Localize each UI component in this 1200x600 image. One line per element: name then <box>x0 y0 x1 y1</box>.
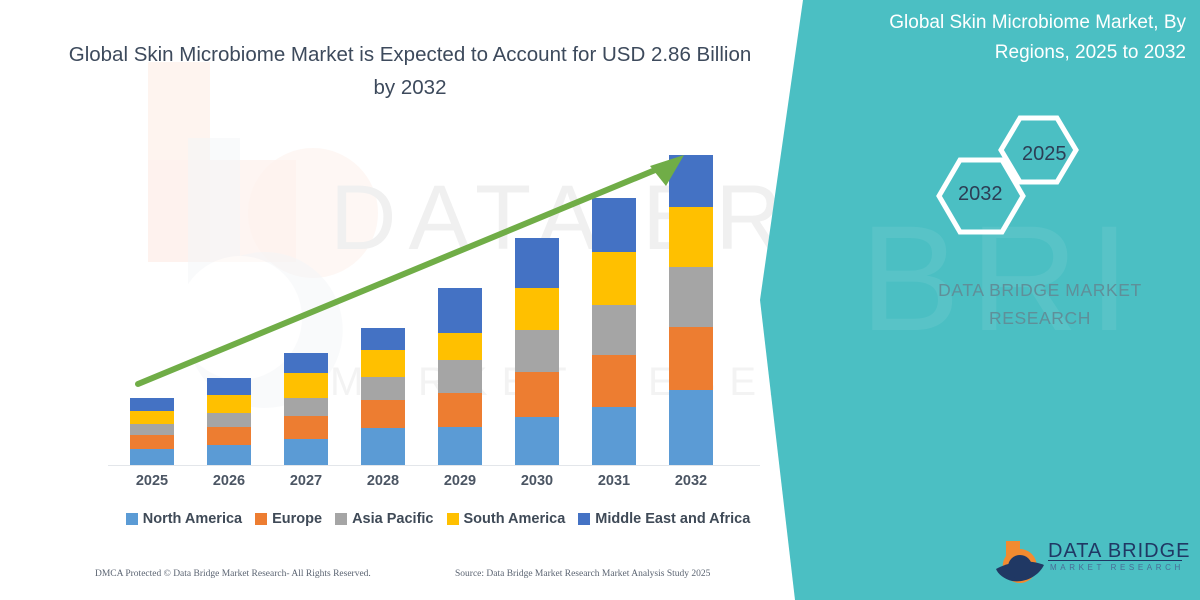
legend-item-south-america[interactable]: South America <box>447 511 566 527</box>
x-tick-2026: 2026 <box>189 473 269 489</box>
footer-source: Source: Data Bridge Market Research Mark… <box>455 569 710 579</box>
segment-europe <box>515 372 559 417</box>
footer-copyright: DMCA Protected © Data Bridge Market Rese… <box>95 569 371 579</box>
hexagon-2032-label: 2032 <box>958 183 1003 206</box>
x-tick-2031: 2031 <box>574 473 654 489</box>
legend-swatch-icon <box>255 513 267 525</box>
segment-south-america <box>438 333 482 360</box>
x-axis-line <box>108 465 760 466</box>
segment-europe <box>669 327 713 390</box>
segment-europe <box>207 427 251 445</box>
segment-north-america <box>515 417 559 465</box>
segment-south-america <box>207 395 251 413</box>
segment-north-america <box>284 439 328 465</box>
bar-2030[interactable] <box>515 238 559 465</box>
segment-asia-pacific <box>207 413 251 427</box>
segment-middle-east-and-africa <box>592 198 636 252</box>
segment-middle-east-and-africa <box>284 353 328 373</box>
panel-brand-text: DATA BRIDGE MARKET RESEARCH <box>900 276 1180 332</box>
legend-label: Europe <box>272 511 322 527</box>
infographic-root: DATA BRIDGE MARKET RESEARCH BRI Global S… <box>0 0 1200 600</box>
x-tick-2032: 2032 <box>651 473 731 489</box>
segment-asia-pacific <box>669 267 713 327</box>
segment-europe <box>361 400 405 428</box>
segment-asia-pacific <box>515 330 559 372</box>
stacked-bar-chart: 2025 2026 2027 2028 2029 2030 2031 2032 <box>0 0 800 600</box>
segment-asia-pacific <box>438 360 482 393</box>
segment-south-america <box>284 373 328 398</box>
segment-asia-pacific <box>130 424 174 435</box>
legend-item-middle-east-and-africa[interactable]: Middle East and Africa <box>578 511 750 527</box>
x-tick-2025: 2025 <box>112 473 192 489</box>
bar-2029[interactable] <box>438 288 482 465</box>
legend-item-north-america[interactable]: North America <box>126 511 242 527</box>
segment-europe <box>592 355 636 407</box>
legend-label: Middle East and Africa <box>595 511 750 527</box>
segment-europe <box>130 435 174 449</box>
segment-north-america <box>361 428 405 465</box>
segment-south-america <box>669 207 713 267</box>
legend-label: Asia Pacific <box>352 511 433 527</box>
segment-north-america <box>592 407 636 465</box>
hexagon-pair-graphic <box>920 108 1130 248</box>
segment-south-america <box>130 411 174 424</box>
segment-north-america <box>438 427 482 465</box>
legend-swatch-icon <box>578 513 590 525</box>
segment-middle-east-and-africa <box>207 378 251 395</box>
bar-2028[interactable] <box>361 328 405 465</box>
bar-2026[interactable] <box>207 378 251 465</box>
hexagon-2025-label: 2025 <box>1022 143 1067 166</box>
segment-south-america <box>515 288 559 330</box>
bar-2027[interactable] <box>284 353 328 465</box>
segment-asia-pacific <box>592 305 636 355</box>
bar-2025[interactable] <box>130 398 174 465</box>
segment-asia-pacific <box>284 398 328 416</box>
segment-north-america <box>669 390 713 465</box>
segment-middle-east-and-africa <box>130 398 174 411</box>
legend-swatch-icon <box>447 513 459 525</box>
segment-north-america <box>130 449 174 465</box>
segment-middle-east-and-africa <box>669 155 713 207</box>
x-tick-2028: 2028 <box>343 473 423 489</box>
logo-subtitle: MARKET RESEARCH <box>1050 563 1184 572</box>
legend-label: North America <box>143 511 242 527</box>
legend-item-europe[interactable]: Europe <box>255 511 322 527</box>
x-tick-2030: 2030 <box>497 473 577 489</box>
logo-divider <box>1048 560 1182 561</box>
legend-item-asia-pacific[interactable]: Asia Pacific <box>335 511 433 527</box>
x-tick-2027: 2027 <box>266 473 346 489</box>
x-tick-2029: 2029 <box>420 473 500 489</box>
segment-middle-east-and-africa <box>361 328 405 350</box>
legend-label: South America <box>464 511 566 527</box>
chart-legend: North America Europe Asia Pacific South … <box>108 511 768 527</box>
segment-asia-pacific <box>361 377 405 400</box>
segment-europe <box>438 393 482 427</box>
segment-middle-east-and-africa <box>438 288 482 333</box>
bar-2032[interactable] <box>669 155 713 465</box>
segment-south-america <box>592 252 636 305</box>
legend-swatch-icon <box>126 513 138 525</box>
bar-2031[interactable] <box>592 198 636 465</box>
legend-swatch-icon <box>335 513 347 525</box>
segment-europe <box>284 416 328 439</box>
segment-north-america <box>207 445 251 465</box>
segment-south-america <box>361 350 405 377</box>
panel-title: Global Skin Microbiome Market, By Region… <box>828 8 1186 68</box>
segment-middle-east-and-africa <box>515 238 559 288</box>
